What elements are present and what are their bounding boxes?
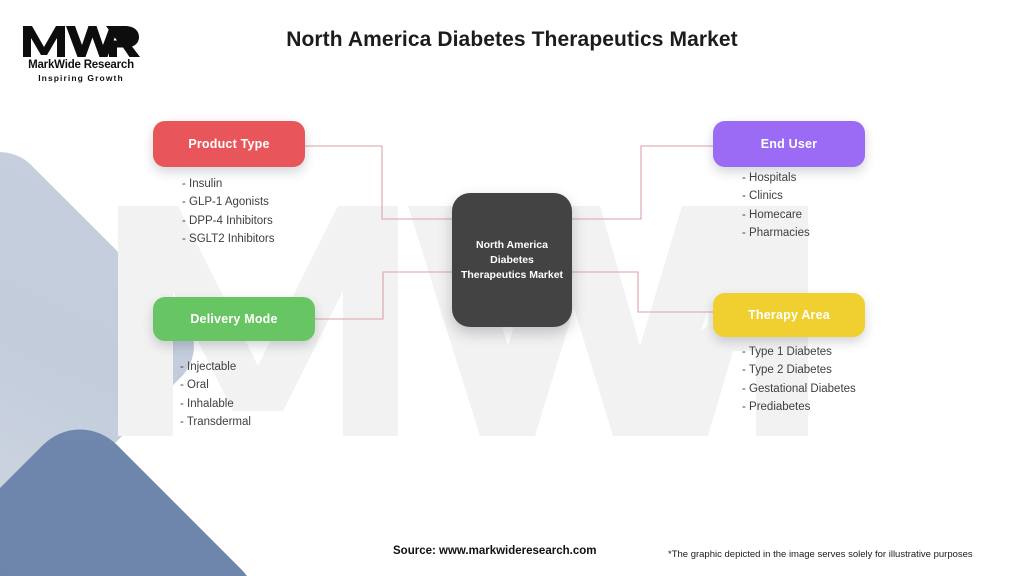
branch-node-product-type[interactable]: Product Type	[153, 121, 305, 167]
center-node[interactable]: North America Diabetes Therapeutics Mark…	[452, 193, 572, 327]
list-item: - Gestational Diabetes	[742, 380, 856, 398]
branch-items-end-user: - Hospitals - Clinics - Homecare - Pharm…	[742, 169, 810, 243]
logo-tagline: Inspiring Growth	[16, 73, 146, 83]
list-item: - Clinics	[742, 187, 810, 205]
list-item: - Type 1 Diabetes	[742, 343, 856, 361]
disclaimer-label: *The graphic depicted in the image serve…	[668, 549, 973, 560]
branch-label-therapy-area: Therapy Area	[748, 308, 830, 322]
list-item: - Prediabetes	[742, 398, 856, 416]
list-item: - SGLT2 Inhibitors	[182, 230, 274, 248]
list-item: - GLP-1 Agonists	[182, 193, 274, 211]
branch-items-therapy-area: - Type 1 Diabetes - Type 2 Diabetes - Ge…	[742, 343, 856, 417]
branch-label-product-type: Product Type	[188, 137, 269, 151]
branch-label-delivery-mode: Delivery Mode	[190, 312, 277, 326]
branch-node-end-user[interactable]: End User	[713, 121, 865, 167]
center-node-line-2: Diabetes	[490, 253, 534, 268]
list-item: - Type 2 Diabetes	[742, 361, 856, 379]
list-item: - Transdermal	[180, 413, 251, 431]
branch-node-delivery-mode[interactable]: Delivery Mode	[153, 297, 315, 341]
source-label: Source: www.markwideresearch.com	[393, 545, 596, 557]
list-item: - Insulin	[182, 175, 274, 193]
infographic-canvas: MarkWide Research Inspiring Growth North…	[0, 0, 1024, 576]
branch-items-product-type: - Insulin - GLP-1 Agonists - DPP-4 Inhib…	[182, 175, 274, 249]
branch-label-end-user: End User	[761, 137, 817, 151]
list-item: - DPP-4 Inhibitors	[182, 212, 274, 230]
list-item: - Oral	[180, 376, 251, 394]
list-item: - Pharmacies	[742, 224, 810, 242]
branch-items-delivery-mode: - Injectable - Oral - Inhalable - Transd…	[180, 358, 251, 432]
logo-company-name: MarkWide Research	[16, 59, 146, 71]
center-node-line-1: North America	[476, 238, 548, 253]
page-title: North America Diabetes Therapeutics Mark…	[0, 28, 1024, 52]
list-item: - Homecare	[742, 206, 810, 224]
list-item: - Hospitals	[742, 169, 810, 187]
list-item: - Inhalable	[180, 395, 251, 413]
branch-node-therapy-area[interactable]: Therapy Area	[713, 293, 865, 337]
list-item: - Injectable	[180, 358, 251, 376]
center-node-line-3: Therapeutics Market	[461, 268, 563, 283]
